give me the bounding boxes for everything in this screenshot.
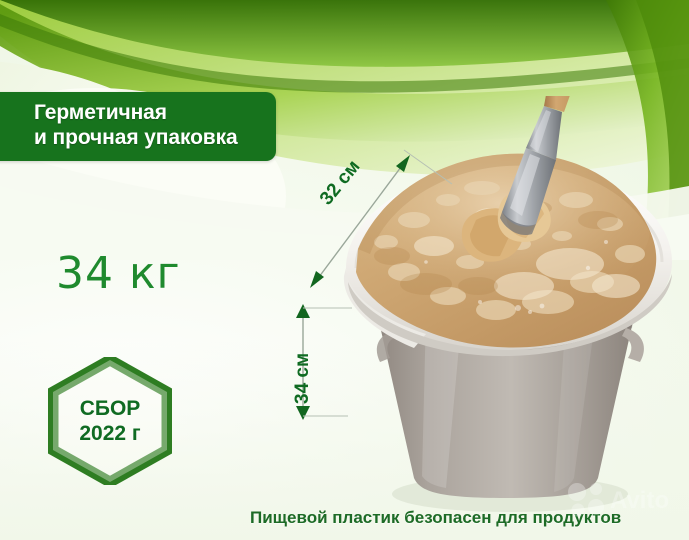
weight-label: 34 кг	[56, 248, 181, 299]
food-safe-caption: Пищевой пластик безопасен для продуктов	[250, 508, 621, 528]
harvest-year-badge-text: СБОР 2022 г	[48, 357, 172, 485]
dimension-height-label: 34 см	[292, 353, 314, 404]
product-photo-honey-bucket	[330, 96, 689, 521]
feature-banner-line1: Герметичная	[34, 101, 167, 124]
feature-banner-text: Герметичная и прочная упаковка	[14, 92, 290, 161]
feature-banner-line2: и прочная упаковка	[34, 125, 280, 150]
harvest-badge-line1: СБОР	[80, 398, 141, 420]
harvest-badge-line2: 2022 г	[79, 423, 140, 445]
promo-image: Герметичная и прочная упаковка 34 кг СБО…	[0, 0, 689, 540]
